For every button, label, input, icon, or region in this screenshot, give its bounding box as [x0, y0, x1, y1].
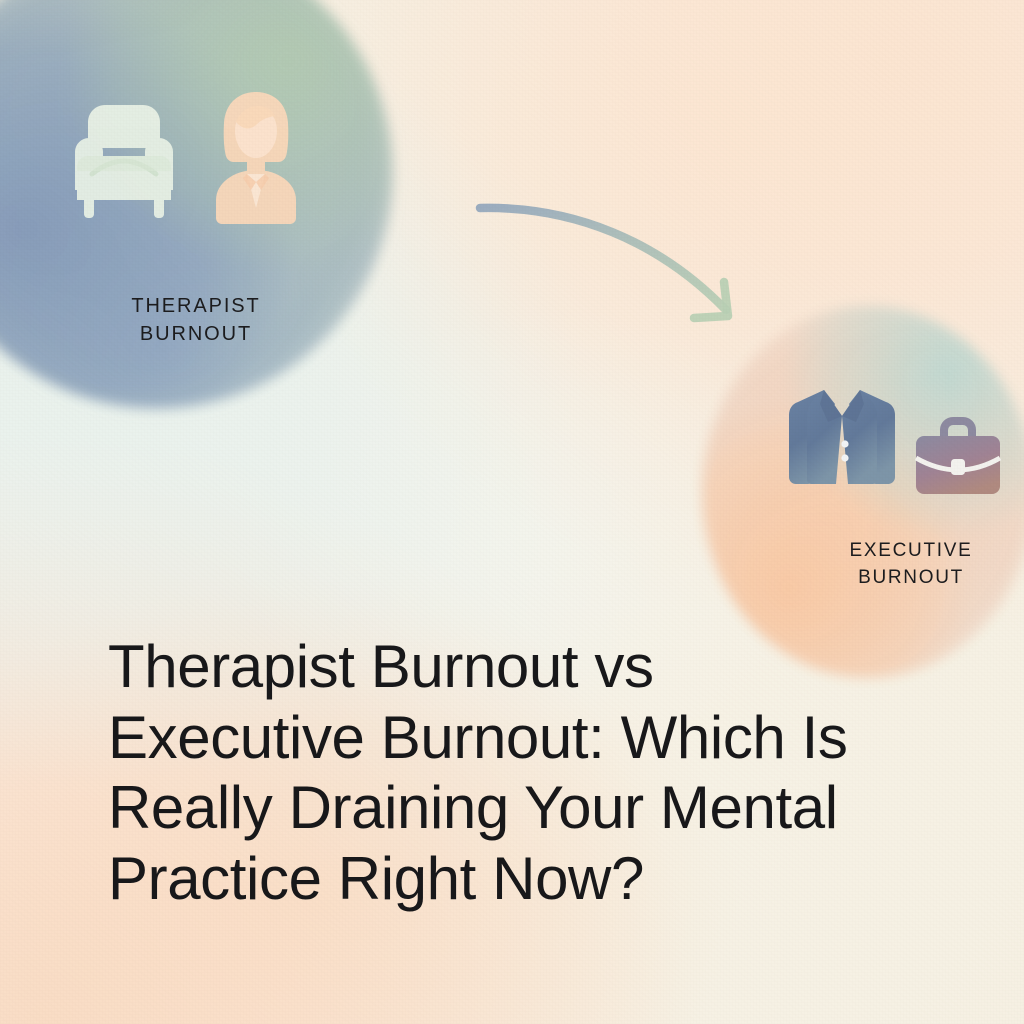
briefcase-icon [912, 414, 1004, 504]
therapist-icon-group [62, 86, 310, 228]
suit-jacket-icon [786, 382, 898, 504]
promo-graphic-canvas: THERAPIST BURNOUT EXECUTIVE BURNOUT Ther… [0, 0, 1024, 1024]
armchair-icon [62, 92, 186, 228]
curved-arrow-icon [462, 178, 782, 353]
therapist-burnout-label: THERAPIST BURNOUT [60, 292, 332, 349]
female-therapist-icon [202, 86, 310, 228]
executive-icon-group [786, 382, 1004, 504]
page-title: Therapist Burnout vs Executive Burnout: … [108, 632, 908, 914]
executive-burnout-label: EXECUTIVE BURNOUT [800, 538, 1022, 592]
